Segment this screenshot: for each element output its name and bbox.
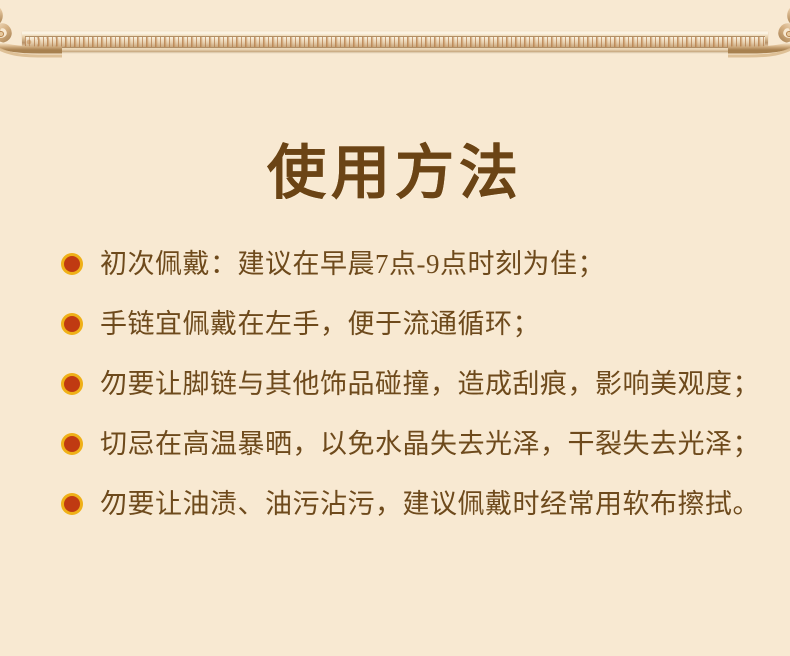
gold-bar-inner <box>25 36 765 48</box>
page-title: 使用方法 <box>0 143 790 205</box>
instruction-text: 勿要让油渍、油污沾污，建议佩戴时经常用软布擦拭。 <box>100 487 764 521</box>
gold-bar-outer <box>22 30 768 52</box>
bullet-dot-icon <box>64 376 80 392</box>
decorative-top-frame <box>0 0 790 78</box>
instruction-text: 切忌在高温暴晒，以免水晶失去光泽，干裂失去光泽； <box>100 427 764 461</box>
product-usage-banner: 使用方法 初次佩戴：建议在早晨7点-9点时刻为佳； 手链宜佩戴在左手，便于流通循… <box>0 0 790 656</box>
bullet-dot-icon <box>64 256 80 272</box>
chain-pattern-icon <box>25 37 765 47</box>
corner-scroll-ornament-left <box>0 0 62 78</box>
list-item: 勿要让脚链与其他饰品碰撞，造成刮痕，影响美观度； <box>64 367 764 427</box>
instruction-list: 初次佩戴：建议在早晨7点-9点时刻为佳； 手链宜佩戴在左手，便于流通循环； 勿要… <box>64 247 764 547</box>
list-item: 初次佩戴：建议在早晨7点-9点时刻为佳； <box>64 247 764 307</box>
list-item: 勿要让油渍、油污沾污，建议佩戴时经常用软布擦拭。 <box>64 487 764 547</box>
ornamental-gold-bar <box>22 30 768 52</box>
list-item: 切忌在高温暴晒，以免水晶失去光泽，干裂失去光泽； <box>64 427 764 487</box>
instruction-text: 勿要让脚链与其他饰品碰撞，造成刮痕，影响美观度； <box>100 367 764 401</box>
bullet-dot-icon <box>64 496 80 512</box>
list-item: 手链宜佩戴在左手，便于流通循环； <box>64 307 764 367</box>
corner-scroll-ornament-right <box>728 0 790 78</box>
bullet-dot-icon <box>64 316 80 332</box>
bullet-dot-icon <box>64 436 80 452</box>
instruction-text: 初次佩戴：建议在早晨7点-9点时刻为佳； <box>100 247 764 281</box>
instruction-text: 手链宜佩戴在左手，便于流通循环； <box>100 307 764 341</box>
